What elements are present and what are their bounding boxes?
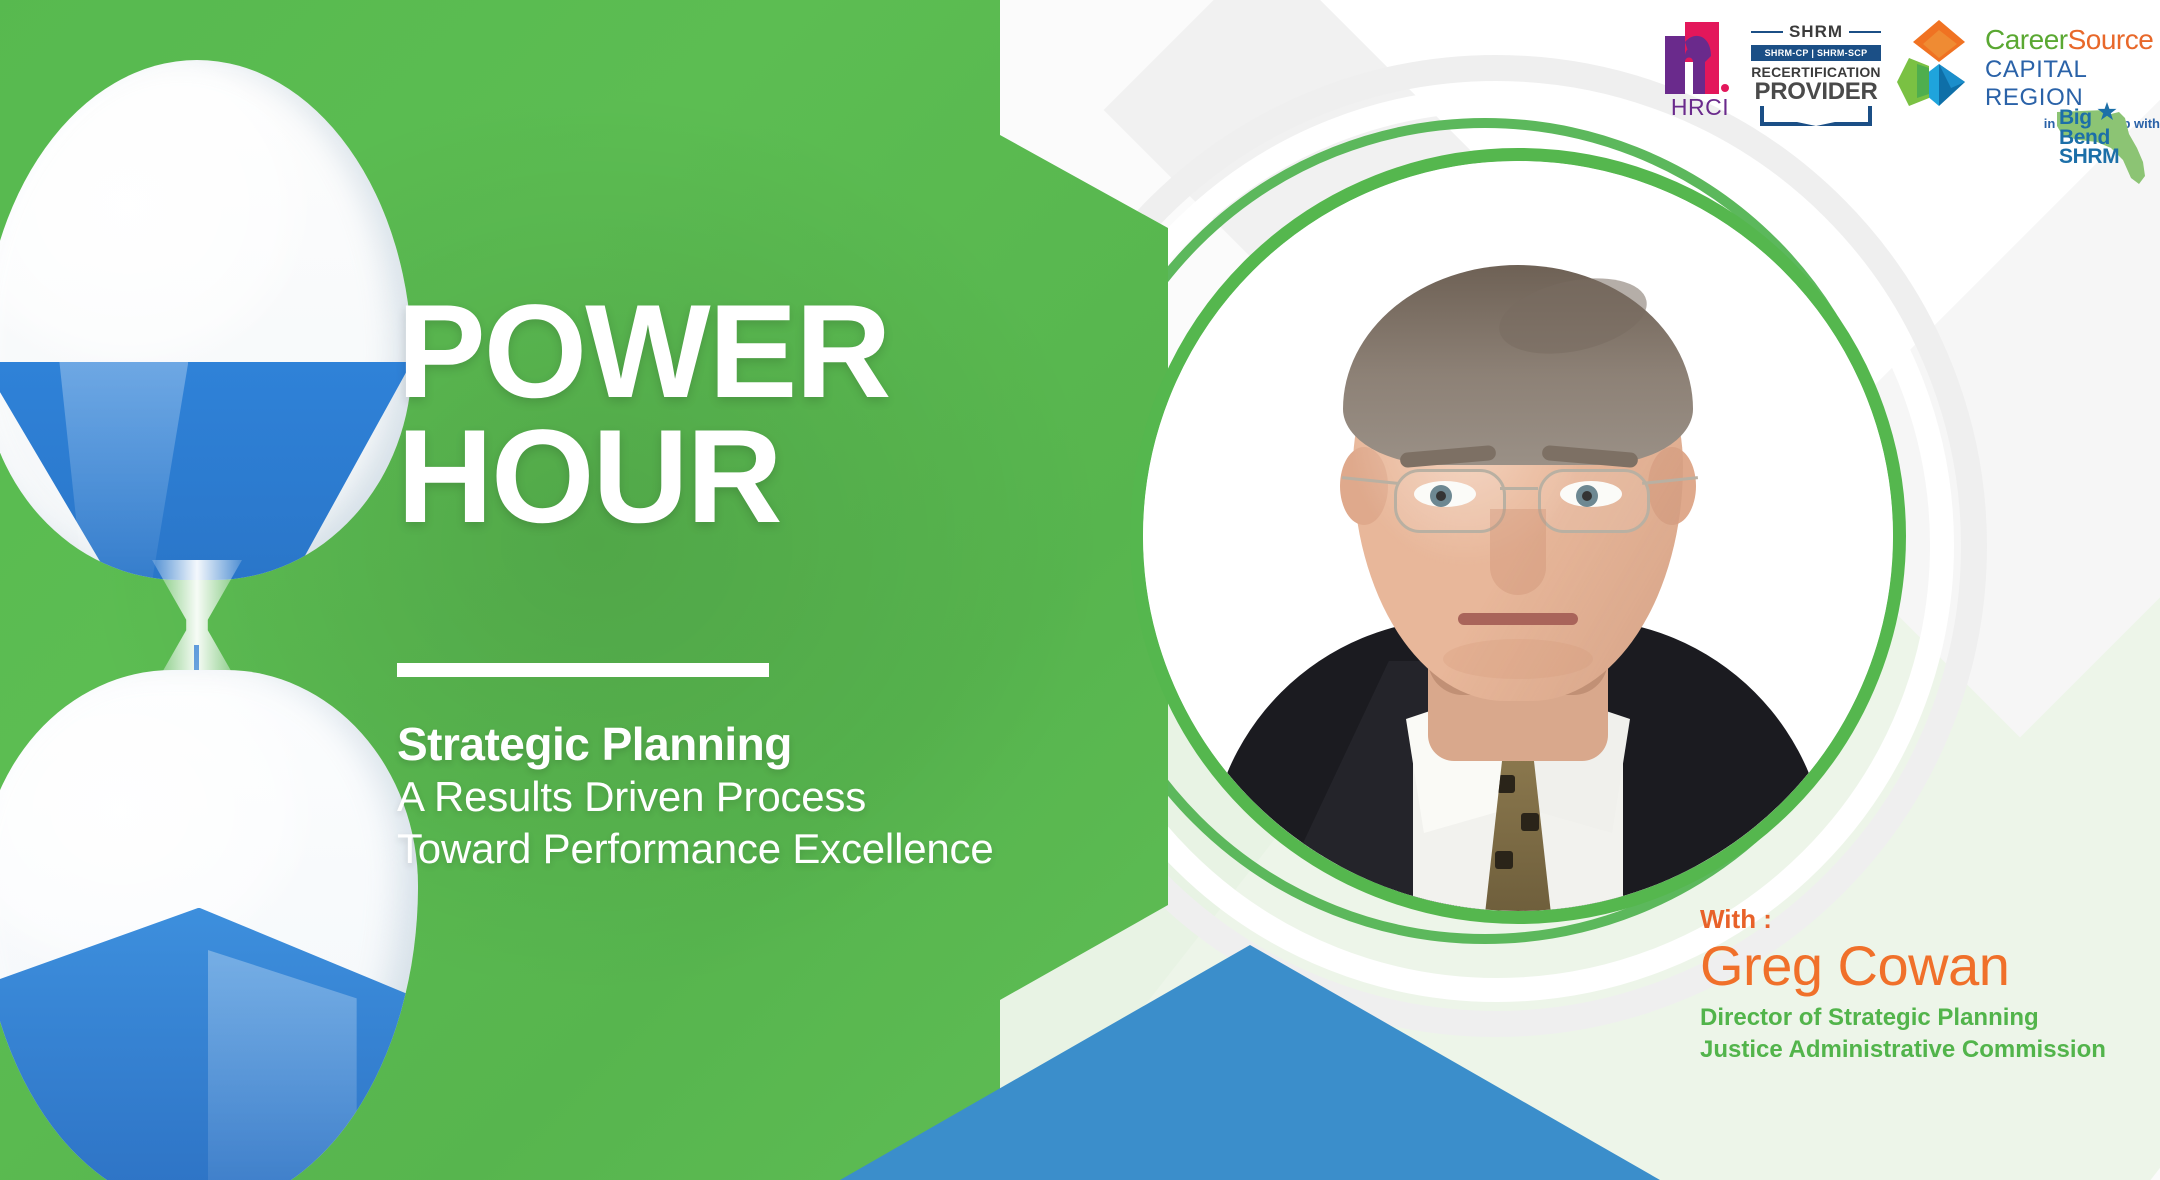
speaker-role: Director of Strategic Planning xyxy=(1700,1002,2160,1034)
subtitle-block: Strategic Planning A Results Driven Proc… xyxy=(397,718,1097,874)
shrm-title-row: SHRM xyxy=(1751,22,1881,42)
headline-line-power: POWER xyxy=(397,290,1037,415)
speaker-name: Greg Cowan xyxy=(1700,936,2160,996)
hourglass-bottom-bulb xyxy=(0,670,418,1180)
hourglass-top-bulb xyxy=(0,60,412,580)
subtitle-line-1: A Results Driven Process xyxy=(397,771,1097,822)
speaker-with-label: With : xyxy=(1700,905,2160,934)
portrait-nose xyxy=(1490,509,1546,595)
portrait-mouth xyxy=(1458,613,1578,625)
tie-pattern-square xyxy=(1521,813,1539,831)
careersource-diamond-icon xyxy=(1895,18,1979,108)
careersource-name-row: CareerSource xyxy=(1985,26,2160,54)
speaker-portrait xyxy=(1130,148,1906,924)
speaker-organization: Justice Administrative Commission xyxy=(1700,1034,2160,1066)
bigbend-shrm-logo: Big Bend SHRM xyxy=(2053,104,2153,188)
shrm-rule-right xyxy=(1849,31,1881,33)
shrm-credentials: SHRM-CP | SHRM-SCP xyxy=(1751,45,1881,61)
shrm-bracket-ornament xyxy=(1760,106,1872,126)
shrm-rule-left xyxy=(1751,31,1783,33)
logo-bar: HRCI SHRM SHRM-CP | SHRM-SCP RECERTIFICA… xyxy=(1655,8,2160,188)
portrait-chin xyxy=(1443,639,1593,679)
speaker-info-block: With : Greg Cowan Director of Strategic … xyxy=(1700,905,2160,1067)
tie-pattern-square xyxy=(1495,851,1513,869)
portrait-image xyxy=(1143,161,1893,911)
subtitle-topic: Strategic Planning xyxy=(397,718,1097,771)
headline-line-hour: HOUR xyxy=(397,415,1037,540)
page-title: POWER HOUR xyxy=(397,290,1037,540)
portrait-eyeglass-bridge xyxy=(1500,487,1538,490)
shrm-provider-label: PROVIDER xyxy=(1751,80,1881,104)
careersource-source-word: Source xyxy=(2068,24,2154,55)
hrci-logo: HRCI xyxy=(1655,22,1745,122)
careersource-career-word: Career xyxy=(1985,24,2068,55)
shrm-recertification-badge: SHRM SHRM-CP | SHRM-SCP RECERTIFICATION … xyxy=(1751,22,1881,126)
hourglass-icon xyxy=(0,60,442,1180)
hourglass-top-sand xyxy=(0,362,412,580)
portrait-eyeglass-right xyxy=(1538,469,1650,533)
bigbend-line-3: SHRM xyxy=(2059,147,2119,167)
bigbend-wordmark: Big Bend SHRM xyxy=(2059,108,2119,167)
title-divider xyxy=(397,663,769,677)
promotional-flyer: POWER HOUR Strategic Planning A Results … xyxy=(0,0,2160,1180)
hrci-h-icon xyxy=(1665,22,1731,94)
bigbend-line-1: Big xyxy=(2059,108,2119,128)
shrm-word: SHRM xyxy=(1789,22,1843,42)
subtitle-line-2: Toward Performance Excellence xyxy=(397,823,1097,874)
hrci-label: HRCI xyxy=(1655,94,1745,121)
